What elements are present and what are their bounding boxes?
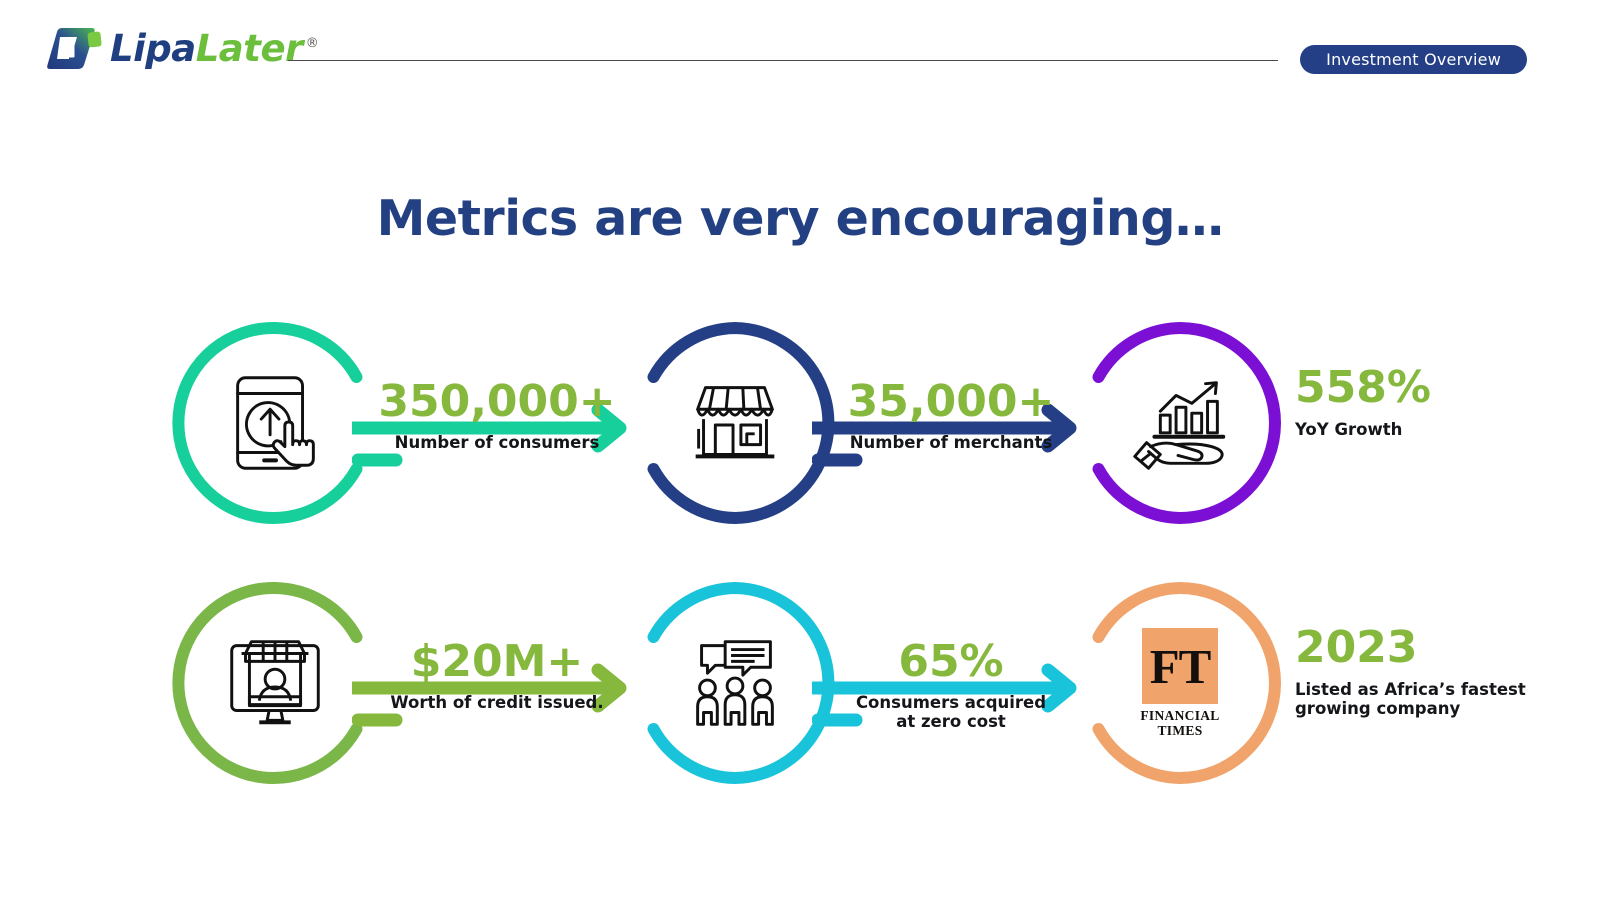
connector-credit-to-acquisition: $20M+ Worth of credit issued. (352, 578, 642, 798)
brand-word-later: Later (196, 27, 303, 70)
metric-merchants-label: Number of merchants (812, 433, 1090, 452)
tablet-tap-upload-icon (216, 364, 334, 482)
metric-node-consumers[interactable] (170, 318, 380, 528)
metrics-row-1: 350,000+ Number of consumers (0, 318, 1600, 538)
metric-node-credit[interactable] (170, 578, 380, 788)
metric-node-growth[interactable] (1075, 318, 1285, 528)
metric-value: $20M+ (352, 638, 642, 686)
metric-acquisition-label: Consumers acquired at zero cost (812, 693, 1090, 731)
metric-acquisition: 65% (812, 638, 1090, 686)
metric-label: Worth of credit issued. (352, 693, 642, 712)
page-title: Metrics are very encouraging… (0, 190, 1600, 247)
connector-consumers-to-merchants: 350,000+ Number of consumers (352, 318, 642, 538)
storefront-icon (676, 364, 794, 482)
brand-word-lipa: Lipa (110, 27, 196, 70)
connector-acquisition-to-award: 65% Consumers acquired at zero cost (812, 578, 1090, 798)
metric-consumers: 350,000+ (352, 378, 642, 426)
metric-value: 65% (812, 638, 1090, 686)
ft-logo-name: FINANCIAL TIMES (1130, 708, 1230, 738)
metric-value: 558% (1295, 362, 1431, 414)
metrics-row-2: $20M+ Worth of credit issued. (0, 578, 1600, 798)
connector-merchants-to-growth: 35,000+ Number of merchants (812, 318, 1090, 538)
metric-value: 2023 (1295, 622, 1526, 674)
metric-label: Consumers acquired at zero cost (812, 693, 1090, 731)
metric-node-acquisition[interactable] (630, 578, 840, 788)
metric-value: 350,000+ (352, 378, 642, 426)
lipalater-logo-mark-icon (44, 22, 104, 74)
metric-merchants: 35,000+ (812, 378, 1090, 426)
people-chat-icon (676, 624, 794, 742)
metric-credit-label: Worth of credit issued. (352, 693, 642, 712)
metric-node-merchants[interactable] (630, 318, 840, 528)
brand-wordmark: LipaLater® (110, 27, 318, 70)
financial-times-logo: FT FINANCIAL TIMES (1130, 628, 1230, 738)
ft-logo-box: FT (1142, 628, 1218, 704)
metric-node-award[interactable]: FT FINANCIAL TIMES (1075, 578, 1285, 788)
metric-award-year: 2023 Listed as Africa’s fastest growing … (1295, 622, 1526, 718)
metric-value: 35,000+ (812, 378, 1090, 426)
metric-label: Number of merchants (812, 433, 1090, 452)
brand-logo: LipaLater® (44, 22, 318, 74)
header-divider (288, 60, 1278, 61)
hand-growth-chart-icon (1121, 364, 1239, 482)
metric-label: YoY Growth (1295, 420, 1431, 439)
ft-letters: FT (1150, 642, 1211, 691)
slide-root: LipaLater® Investment Overview Metrics a… (0, 0, 1600, 900)
investment-overview-badge[interactable]: Investment Overview (1300, 45, 1527, 74)
metric-label: Number of consumers (352, 433, 642, 452)
metric-label: Listed as Africa’s fastest growing compa… (1295, 680, 1526, 718)
metric-credit: $20M+ (352, 638, 642, 686)
registered-mark: ® (306, 36, 319, 51)
metric-yoy-growth: 558% YoY Growth (1295, 362, 1431, 439)
online-shop-monitor-icon (216, 624, 334, 742)
metric-consumers-label: Number of consumers (352, 433, 642, 452)
